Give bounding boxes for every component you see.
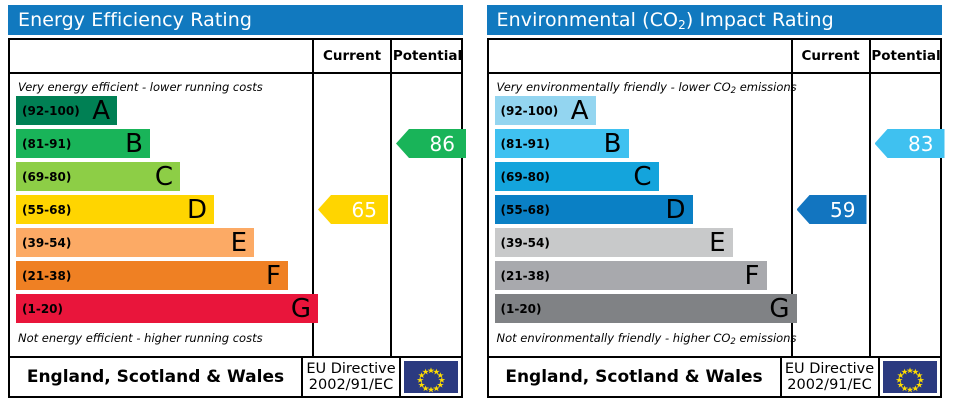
caption-top-subscript: 2	[731, 86, 736, 96]
footer-directive-line1: EU Directive	[785, 361, 874, 377]
band-range-f: (21-38)	[495, 270, 550, 282]
current-rating-value: 59	[830, 200, 855, 220]
band-range-g: (1-20)	[495, 303, 542, 315]
band-letter-d: D	[665, 197, 685, 223]
band-letter-b: B	[604, 131, 622, 157]
band-letter-g: G	[291, 296, 311, 322]
band-row-a: (92-100) A	[16, 96, 117, 125]
page-title-suffix: ) Impact Rating	[686, 9, 834, 31]
rating-bands-group: (92-100) A (81-91) B (69-80) C (55-68) D…	[489, 96, 789, 328]
column-header-potential: Potential	[871, 40, 942, 72]
footer-region-label: England, Scotland & Wales	[489, 367, 780, 387]
column-header-potential: Potential	[392, 40, 463, 72]
page-title: Environmental (CO2) Impact Rating	[497, 11, 834, 30]
band-range-c: (69-80)	[495, 171, 550, 183]
band-row-b: (81-91) B	[16, 129, 150, 158]
band-row-c: (69-80) C	[495, 162, 659, 191]
band-row-g: (1-20) G	[495, 294, 797, 323]
band-row-e: (39-54) E	[495, 228, 733, 257]
footer-directive-line2: 2002/91/EC	[309, 377, 393, 393]
band-row-d: (55-68) D	[495, 195, 693, 224]
band-letter-d: D	[187, 197, 207, 223]
band-range-c: (69-80)	[16, 171, 71, 183]
footer-region-label: England, Scotland & Wales	[10, 367, 301, 387]
band-letter-b: B	[125, 131, 143, 157]
epc-charts-container: Energy Efficiency Rating Current Potenti…	[0, 0, 957, 404]
band-row-f: (21-38) F	[495, 261, 767, 290]
band-letter-c: C	[633, 164, 651, 190]
chart-title-banner: Energy Efficiency Rating	[8, 5, 463, 35]
page-title: Energy Efficiency Rating	[18, 11, 252, 30]
band-range-e: (39-54)	[16, 237, 71, 249]
band-range-b: (81-91)	[495, 138, 550, 150]
chart-footer: England, Scotland & Wales EU Directive 2…	[8, 356, 463, 398]
band-letter-f: F	[745, 263, 760, 289]
caption-top-prefix: Very environmentally friendly - lower CO	[497, 80, 731, 94]
page-title-prefix: Environmental (CO	[497, 9, 679, 31]
band-range-e: (39-54)	[495, 237, 550, 249]
footer-directive: EU Directive 2002/91/EC	[780, 358, 878, 396]
table-header-row: Current Potential	[489, 40, 940, 74]
band-letter-g: G	[769, 296, 789, 322]
caption-top-suffix: emissions	[736, 80, 797, 94]
potential-rating-arrow: 83	[875, 129, 945, 158]
footer-directive-line1: EU Directive	[306, 361, 395, 377]
band-letter-c: C	[155, 164, 173, 190]
band-range-a: (92-100)	[495, 105, 559, 117]
caption-top: Very environmentally friendly - lower CO…	[497, 80, 797, 94]
band-row-d: (55-68) D	[16, 195, 214, 224]
eu-flag-svg	[883, 361, 937, 393]
chart-title-banner: Environmental (CO2) Impact Rating	[487, 5, 942, 35]
current-rating-arrow: 59	[797, 195, 867, 224]
current-rating-value: 65	[352, 200, 377, 220]
caption-bottom: Not environmentally friendly - higher CO…	[497, 331, 797, 345]
caption-bottom-suffix: emissions	[736, 331, 797, 345]
potential-rating-arrow: 86	[396, 129, 466, 158]
column-header-current: Current	[314, 40, 390, 72]
caption-top: Very energy efficient - lower running co…	[18, 80, 263, 94]
column-separator-potential	[390, 40, 392, 356]
band-letter-a: A	[92, 98, 110, 124]
band-row-f: (21-38) F	[16, 261, 288, 290]
band-row-a: (92-100) A	[495, 96, 596, 125]
environmental-co2-impact-rating-chart: Environmental (CO2) Impact Rating Curren…	[479, 0, 957, 404]
column-separator-potential	[869, 40, 871, 356]
band-row-g: (1-20) G	[16, 294, 318, 323]
band-range-b: (81-91)	[16, 138, 71, 150]
caption-bottom: Not energy efficient - higher running co…	[18, 331, 263, 345]
band-row-b: (81-91) B	[495, 129, 629, 158]
potential-rating-value: 83	[908, 134, 933, 154]
eu-flag-icon	[878, 358, 940, 396]
page-title-subscript: 2	[678, 18, 686, 32]
band-range-f: (21-38)	[16, 270, 71, 282]
energy-efficiency-rating-chart: Energy Efficiency Rating Current Potenti…	[0, 0, 479, 404]
band-letter-a: A	[571, 98, 589, 124]
band-range-d: (55-68)	[495, 204, 550, 216]
table-header-row: Current Potential	[10, 40, 461, 74]
band-row-e: (39-54) E	[16, 228, 254, 257]
eu-flag-svg	[404, 361, 458, 393]
potential-rating-value: 86	[430, 134, 455, 154]
band-letter-e: E	[709, 230, 725, 256]
band-range-d: (55-68)	[16, 204, 71, 216]
rating-table-frame: Current Potential Very energy efficient …	[8, 38, 463, 358]
caption-bottom-subscript: 2	[730, 337, 735, 347]
band-letter-f: F	[266, 263, 281, 289]
band-letter-e: E	[231, 230, 247, 256]
band-range-a: (92-100)	[16, 105, 80, 117]
current-rating-arrow: 65	[318, 195, 388, 224]
footer-directive: EU Directive 2002/91/EC	[301, 358, 399, 396]
eu-flag-icon	[399, 358, 461, 396]
chart-footer: England, Scotland & Wales EU Directive 2…	[487, 356, 942, 398]
caption-bottom-prefix: Not environmentally friendly - higher CO	[497, 331, 731, 345]
band-range-g: (1-20)	[16, 303, 63, 315]
rating-table-frame: Current Potential Very environmentally f…	[487, 38, 942, 358]
column-header-current: Current	[793, 40, 869, 72]
rating-bands-group: (92-100) A (81-91) B (69-80) C (55-68) D…	[10, 96, 310, 328]
band-row-c: (69-80) C	[16, 162, 180, 191]
footer-directive-line2: 2002/91/EC	[787, 377, 871, 393]
